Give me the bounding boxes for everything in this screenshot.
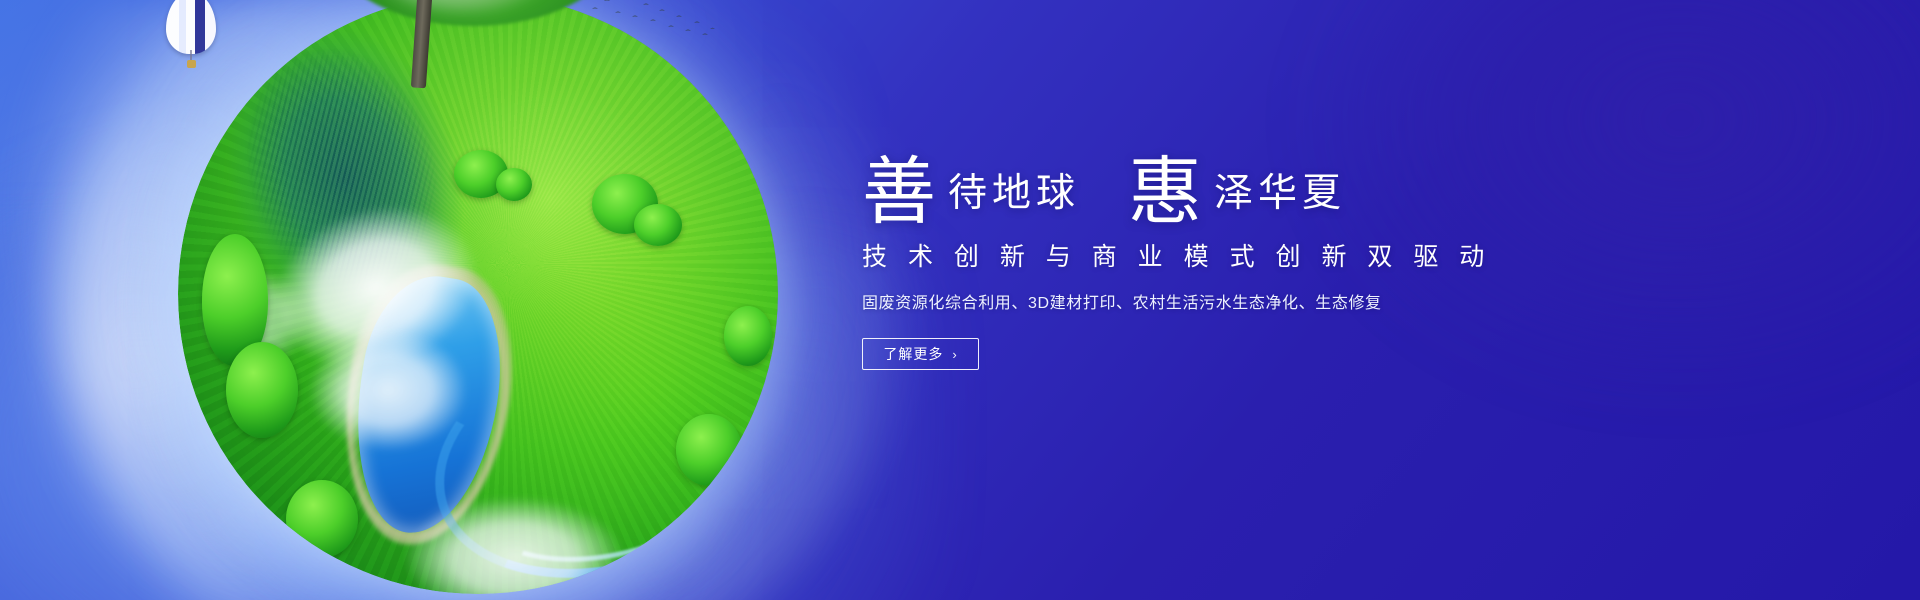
globe-cloud [310, 330, 466, 450]
headline-part1-large: 善 [862, 156, 936, 230]
hot-air-balloon-icon [166, 0, 216, 78]
headline-part1-small: 待地球 [948, 172, 1080, 216]
globe-tree-canopy [496, 168, 532, 201]
globe-forest [286, 480, 358, 558]
balloon-basket [187, 60, 196, 68]
balloon-envelope [166, 0, 216, 54]
globe-cloud [406, 498, 622, 594]
hero-banner: 善 待地球 惠 泽华夏 技 术 创 新 与 商 业 模 式 创 新 双 驱 动 … [0, 0, 1920, 600]
headline-part2-large: 惠 [1128, 156, 1202, 230]
headline-part2-small: 泽华夏 [1214, 172, 1346, 216]
hero-headline: 善 待地球 惠 泽华夏 [862, 128, 1482, 224]
globe-tree-canopy [634, 204, 682, 246]
tiny-planet-artwork [128, 0, 818, 600]
hero-description: 固废资源化综合利用、3D建材打印、农村生活污水生态净化、生态修复 [862, 292, 1482, 316]
balloon-rope [190, 50, 192, 60]
globe [178, 0, 778, 594]
chevron-right-icon: › [952, 348, 957, 361]
birds-icon [588, 0, 718, 47]
globe-forest [724, 306, 772, 366]
learn-more-button[interactable]: 了解更多 › [862, 338, 979, 370]
hero-content: 善 待地球 惠 泽华夏 技 术 创 新 与 商 业 模 式 创 新 双 驱 动 … [862, 128, 1482, 370]
hero-subtitle: 技 术 创 新 与 商 业 模 式 创 新 双 驱 动 [862, 240, 1482, 274]
learn-more-label: 了解更多 [883, 344, 943, 364]
globe-forest [226, 342, 298, 438]
globe-forest [676, 414, 742, 486]
